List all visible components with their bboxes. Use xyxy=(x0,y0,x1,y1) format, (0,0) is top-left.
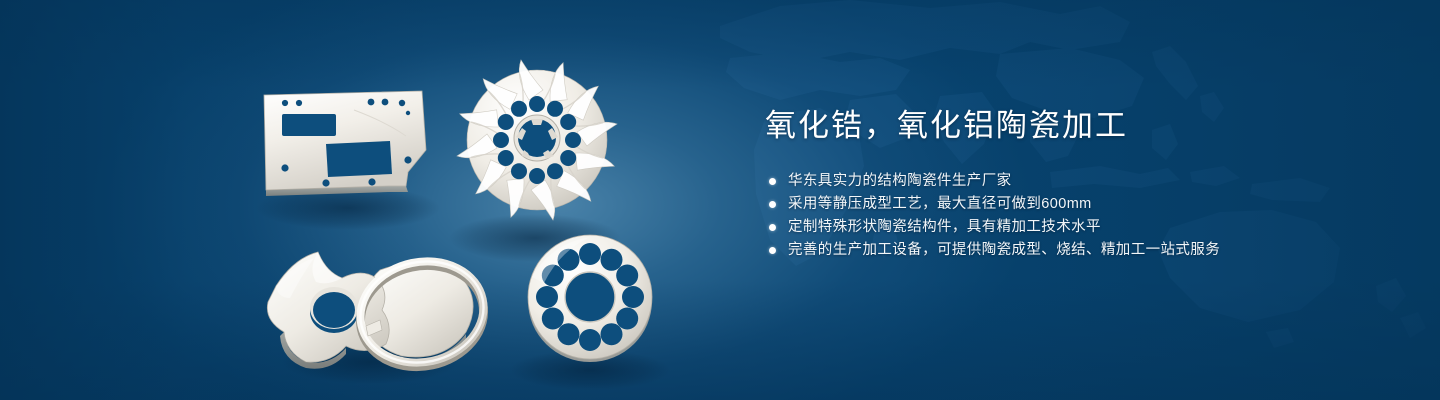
ceramic-perforated-ring xyxy=(528,235,652,362)
list-item: 定制特殊形状陶瓷结构件，具有精加工技术水平 xyxy=(765,216,1385,239)
page-title: 氧化锆，氧化铝陶瓷加工 xyxy=(765,108,1385,144)
list-item-label: 定制特殊形状陶瓷结构件，具有精加工技术水平 xyxy=(788,219,1101,235)
banner-copy: 氧化锆，氧化铝陶瓷加工 华东具实力的结构陶瓷件生产厂家 采用等静压成型工艺，最大… xyxy=(765,108,1385,262)
ceramic-flat-plate xyxy=(264,91,426,196)
feature-list: 华东具实力的结构陶瓷件生产厂家 采用等静压成型工艺，最大直径可做到600mm 定… xyxy=(765,170,1385,262)
product-image-group xyxy=(230,40,690,380)
bullet-dot-icon xyxy=(769,224,776,231)
promo-banner: 氧化锆，氧化铝陶瓷加工 华东具实力的结构陶瓷件生产厂家 采用等静压成型工艺，最大… xyxy=(0,0,1440,400)
list-item-label: 采用等静压成型工艺，最大直径可做到600mm xyxy=(788,196,1092,212)
ceramic-impeller-disc xyxy=(457,60,617,220)
bullet-dot-icon xyxy=(769,178,776,185)
list-item: 采用等静压成型工艺，最大直径可做到600mm xyxy=(765,193,1385,216)
bullet-dot-icon xyxy=(769,201,776,208)
list-item-label: 完善的生产加工设备，可提供陶瓷成型、烧结、精加工一站式服务 xyxy=(788,242,1220,258)
list-item-label: 华东具实力的结构陶瓷件生产厂家 xyxy=(788,173,1012,189)
bullet-dot-icon xyxy=(769,247,776,254)
list-item: 完善的生产加工设备，可提供陶瓷成型、烧结、精加工一站式服务 xyxy=(765,239,1385,262)
list-item: 华东具实力的结构陶瓷件生产厂家 xyxy=(765,170,1385,193)
